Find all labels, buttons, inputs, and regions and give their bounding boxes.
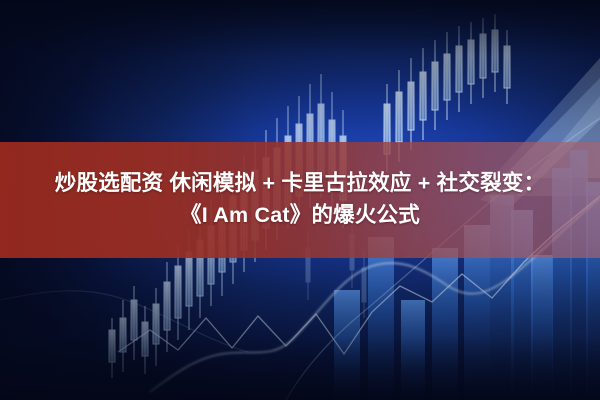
page-title-line-1: 炒股选配资 休闲模拟 + 卡里古拉效应 + 社交裂变： bbox=[55, 169, 545, 199]
page-title-line-2: 《I Am Cat》的爆火公式 bbox=[180, 201, 420, 231]
title-banner-text: 炒股选配资 休闲模拟 + 卡里古拉效应 + 社交裂变： 《I Am Cat》的爆… bbox=[0, 142, 600, 258]
poster-canvas: 炒股选配资 休闲模拟 + 卡里古拉效应 + 社交裂变： 《I Am Cat》的爆… bbox=[0, 0, 600, 400]
